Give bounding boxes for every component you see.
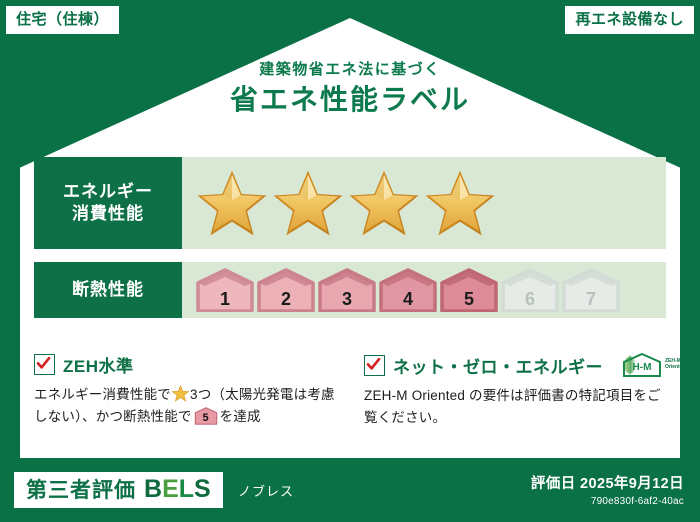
insulation-level-5: 5 [440, 268, 498, 312]
company-name: ノブレス [238, 481, 294, 500]
svg-text:H-M: H-M [633, 362, 652, 373]
insulation-level-1: 1 [196, 268, 254, 312]
metric-row-insulation-performance: 断熱性能 1234567 [34, 262, 666, 318]
zeh-logo-caption-line2: Oriented [665, 364, 686, 370]
badge-renewable-equipment: 再エネ設備なし [565, 6, 694, 34]
zeh-logo-caption: ZEH-M Oriented [665, 359, 686, 371]
bels-letter-b: B [144, 475, 162, 503]
insulation-level-number: 5 [440, 290, 498, 308]
zeh-house-logo-icon: H-M [615, 352, 663, 378]
info-body-zeh: エネルギー消費性能で3つ（太陽光発電は考慮しない）、かつ断熱性能で5を達成 [34, 384, 340, 428]
metric-value-insulation: 1234567 [182, 262, 666, 318]
checkbox-nzeb[interactable] [364, 355, 385, 376]
inline-house-level: 5 [194, 413, 218, 424]
insulation-level-number: 6 [501, 290, 559, 308]
zeh-m-oriented-logo: H-M ZEH-M Oriented [615, 352, 686, 378]
info-block-zeh: ZEH水準 エネルギー消費性能で3つ（太陽光発電は考慮しない）、かつ断熱性能で5… [34, 352, 340, 429]
evaluation-date-label: 評価日 [531, 476, 576, 492]
insulation-level-number: 4 [379, 290, 437, 308]
page-title: 省エネ性能ラベル [0, 85, 700, 116]
zeh-text-part3: を達成 [220, 409, 261, 424]
info-body-nzeb: ZEH-M Oriented の要件は評価書の特記項目をご覧ください。 [364, 385, 670, 429]
evaluation-date-value: 2025年9月12日 [580, 476, 684, 492]
insulation-level-number: 1 [196, 290, 254, 308]
star-rating [196, 168, 496, 238]
info-blocks: ZEH水準 エネルギー消費性能で3つ（太陽光発電は考慮しない）、かつ断熱性能で5… [34, 352, 670, 429]
check-icon [36, 356, 51, 371]
bels-wordmark: BELS [144, 477, 211, 502]
badge-building-type: 住宅（住棟） [6, 6, 119, 34]
zeh-text-part1: エネルギー消費性能で [34, 387, 171, 402]
checkbox-zeh[interactable] [34, 354, 55, 375]
info-head-zeh: ZEH水準 [34, 352, 340, 377]
bels-letter-s: S [194, 475, 211, 503]
title-block: 建築物省エネ法に基づく 省エネ性能ラベル [0, 62, 700, 115]
evaluation-meta: 評価日 2025年9月12日 790e830f-6af2-40ac [531, 476, 684, 508]
star-icon [424, 168, 496, 238]
metric-label-energy-line1: エネルギー [63, 181, 153, 203]
insulation-level-2: 2 [257, 268, 315, 312]
insulation-level-number: 7 [562, 290, 620, 308]
star-icon [348, 168, 420, 238]
bels-third-party-mark: 第三者評価 BELS [14, 472, 223, 508]
inline-house-icon: 5 [194, 407, 218, 425]
insulation-level-number: 2 [257, 290, 315, 308]
insulation-level-4: 4 [379, 268, 437, 312]
metric-row-energy-performance: エネルギー 消費性能 [34, 157, 666, 249]
title-subtitle: 建築物省エネ法に基づく [0, 62, 700, 79]
metric-value-energy [182, 157, 666, 249]
metric-label-insulation: 断熱性能 [34, 262, 182, 318]
insulation-level-6: 6 [501, 268, 559, 312]
star-icon [196, 168, 268, 238]
evaluation-date: 評価日 2025年9月12日 [531, 476, 684, 493]
insulation-level-number: 3 [318, 290, 376, 308]
bels-jp-label: 第三者評価 [26, 480, 136, 501]
bels-letter-e: E [162, 475, 179, 503]
info-heading-nzeb: ネット・ゼロ・エネルギー [393, 353, 603, 378]
bels-letter-l: L [179, 475, 194, 503]
info-block-nzeb: ネット・ゼロ・エネルギー H-M [364, 352, 670, 429]
evaluation-id: 790e830f-6af2-40ac [531, 496, 684, 508]
star-icon [272, 168, 344, 238]
metric-label-energy: エネルギー 消費性能 [34, 157, 182, 249]
info-heading-zeh: ZEH水準 [63, 352, 134, 377]
metric-label-insulation-line1: 断熱性能 [72, 279, 144, 301]
info-head-nzeb: ネット・ゼロ・エネルギー H-M [364, 352, 670, 378]
bels-energy-label: 住宅（住棟） 再エネ設備なし 建築物省エネ法に基づく 省エネ性能ラベル エネルギ… [0, 0, 700, 522]
insulation-scale: 1234567 [196, 268, 620, 312]
metric-label-energy-line2: 消費性能 [72, 203, 144, 225]
insulation-level-3: 3 [318, 268, 376, 312]
check-icon [366, 357, 381, 372]
insulation-level-7: 7 [562, 268, 620, 312]
zeh-star-count: 3つ [190, 387, 211, 402]
inline-star-icon [172, 385, 189, 402]
